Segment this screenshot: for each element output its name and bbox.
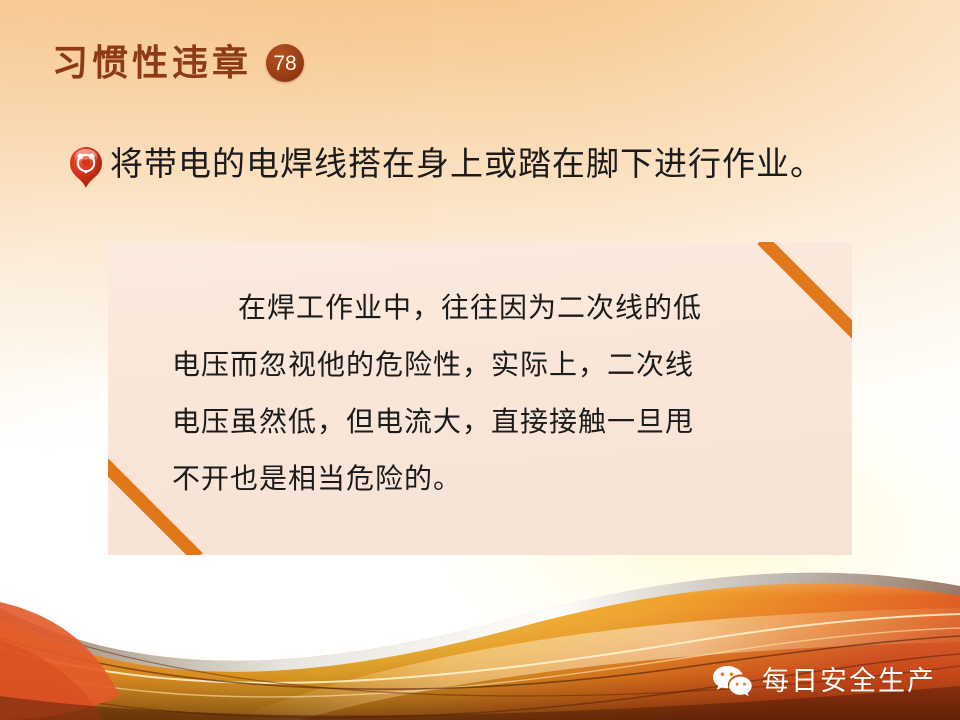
- content-paragraph: 在焊工作业中，往往因为二次线的低 电压而忽视他的危险性，实际上，二次线 电压虽然…: [108, 242, 852, 508]
- content-line: 在焊工作业中，往往因为二次线的低: [172, 280, 822, 337]
- content-line: 电压虽然低，但电流大，直接接触一旦甩: [172, 394, 822, 451]
- alarm-pin-icon: [66, 144, 106, 190]
- page-title: 习惯性违章: [52, 45, 252, 81]
- page-number-badge: 78: [266, 44, 304, 82]
- footer-text: 每日安全生产: [762, 668, 936, 695]
- slide-header: 习惯性违章 78: [52, 44, 304, 82]
- slide-canvas: 习惯性违章 78: [0, 0, 960, 720]
- headline-row: 将带电的电焊线搭在身上或踏在脚下进行作业。: [66, 142, 926, 190]
- headline-text: 将带电的电焊线搭在身上或踏在脚下进行作业。: [110, 147, 824, 185]
- footer-watermark: 每日安全生产: [712, 664, 936, 698]
- wechat-icon: [712, 664, 752, 698]
- content-line: 电压而忽视他的危险性，实际上，二次线: [172, 337, 822, 394]
